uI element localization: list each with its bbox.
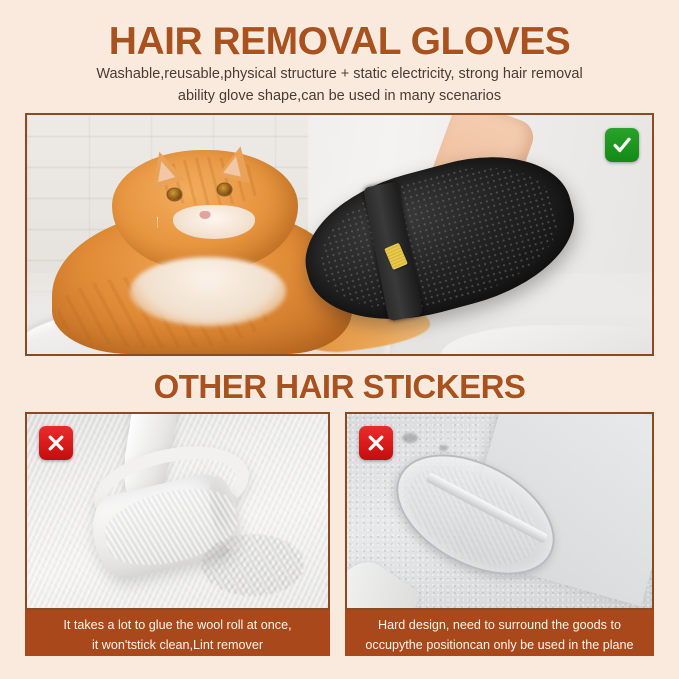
caption-lint-roller: It takes a lot to glue the wool roll at … (25, 610, 330, 656)
subtitle-line-1: Washable,reusable,physical structure + s… (96, 66, 582, 82)
caption-line-1: It takes a lot to glue the wool roll at … (31, 615, 324, 635)
page-title: HAIR REMOVAL GLOVES (0, 20, 679, 64)
loose-hair-tuft (202, 534, 304, 596)
subtitle-line-2: ability glove shape,can be used in many … (178, 88, 501, 104)
hero-image-panel (25, 113, 654, 356)
comparison-panel-metal-brush (345, 412, 654, 610)
cat-eye-left (168, 189, 181, 200)
cat-eye-right (218, 184, 231, 195)
caption-line-1: Hard design, need to surround the goods … (351, 615, 648, 635)
check-badge (605, 128, 639, 162)
cat-head (112, 150, 298, 271)
x-badge (359, 426, 393, 460)
caption-line-2: occupythe positioncan only be used in th… (351, 635, 648, 655)
glove-mesh-texture (307, 148, 571, 331)
comparison-panel-lint-roller (25, 412, 330, 610)
caption-line-2: it won'tstick clean,Lint remover (31, 635, 324, 655)
hero-scene (27, 115, 652, 354)
page-subtitle: Washable,reusable,physical structure + s… (40, 63, 639, 107)
hair-removal-glove (289, 135, 589, 343)
x-badge (39, 426, 73, 460)
cat-chest-fur (130, 257, 286, 327)
cat-whiskers (157, 217, 269, 246)
caption-metal-brush: Hard design, need to surround the goods … (345, 610, 654, 656)
hair-speck (439, 445, 448, 451)
glove-assembly (290, 129, 615, 344)
product-infographic: HAIR REMOVAL GLOVES Washable,reusable,ph… (0, 0, 679, 679)
section-title: OTHER HAIR STICKERS (0, 368, 679, 406)
